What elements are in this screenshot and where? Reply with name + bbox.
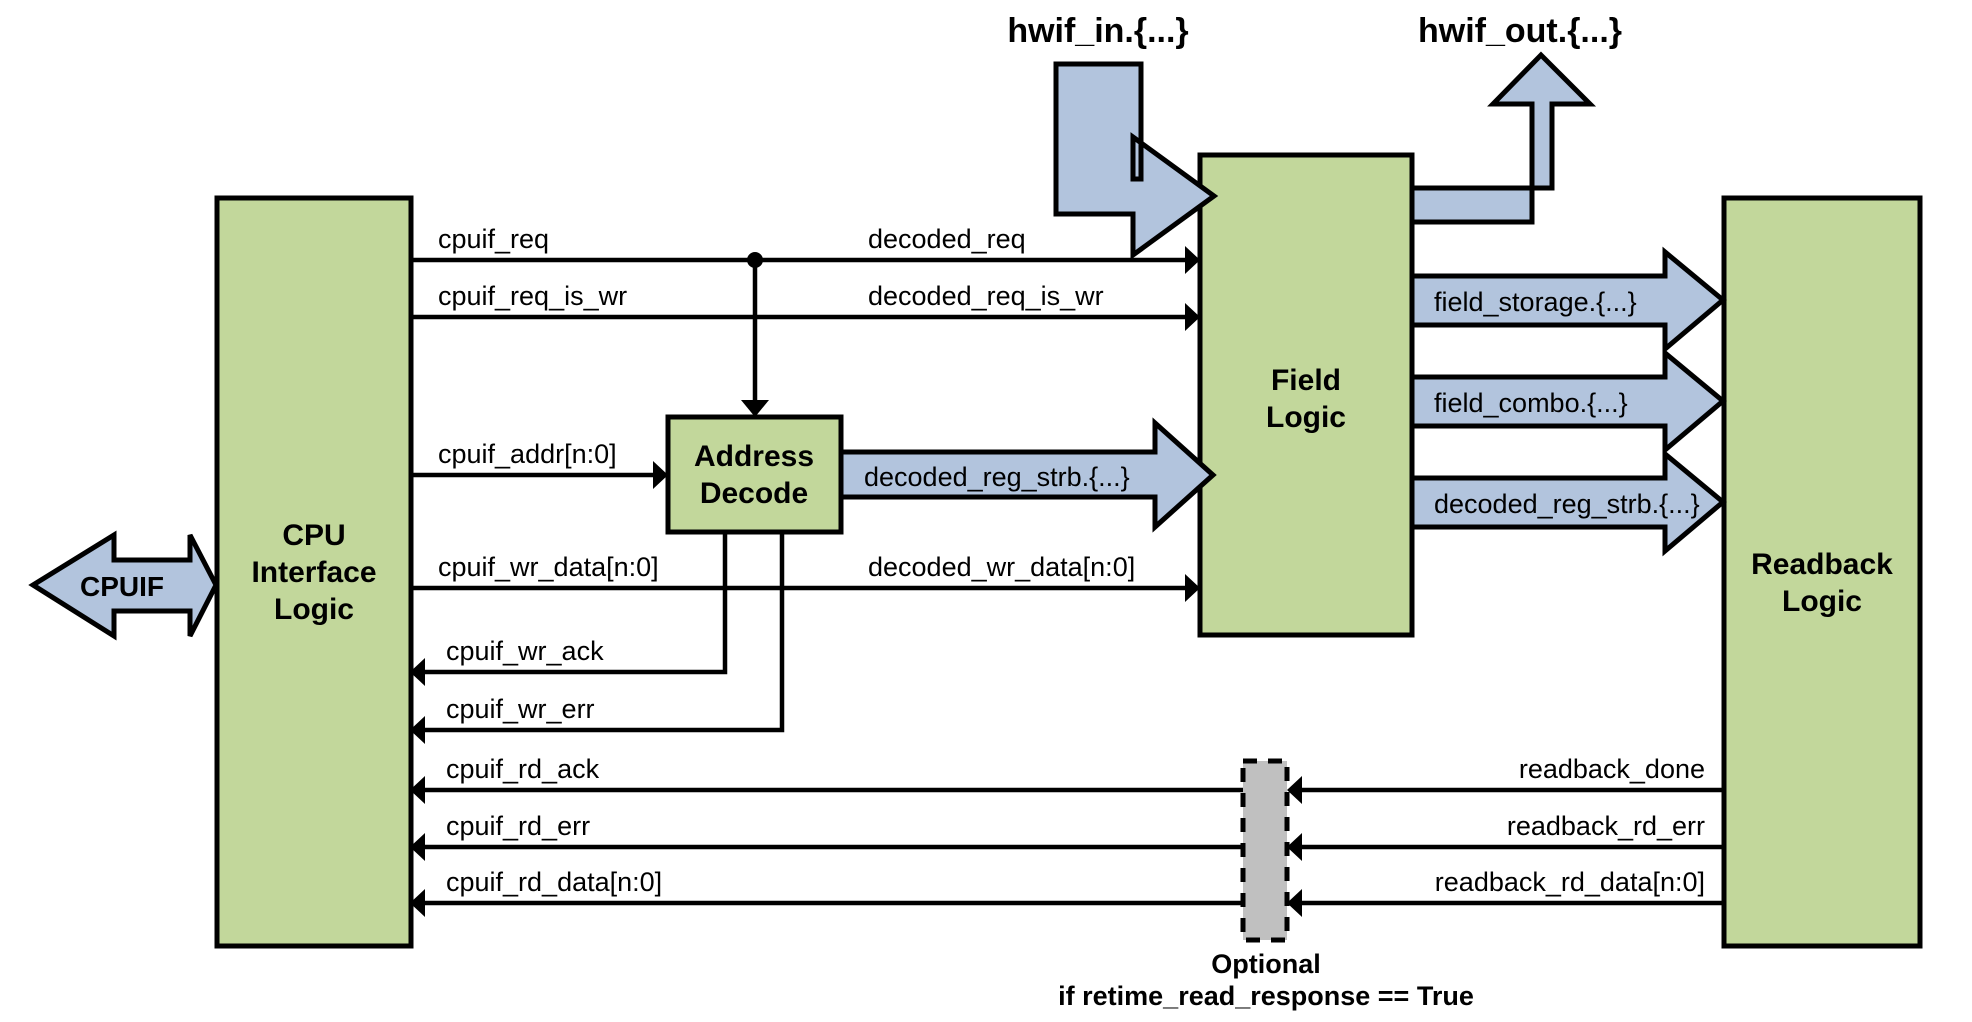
signal-label-decoded-wr-data: decoded_wr_data[n:0] bbox=[868, 552, 1135, 582]
arrowhead-decode-req-in bbox=[741, 400, 769, 417]
cpu-interface-logic-label-line2: Interface bbox=[251, 556, 376, 589]
field-logic-label-line1: Field bbox=[1271, 364, 1341, 397]
address-decode-block bbox=[668, 417, 841, 532]
signal-label-readback-rd-data: readback_rd_data[n:0] bbox=[1435, 867, 1705, 897]
signal-label-cpuif-rd-err: cpuif_rd_err bbox=[446, 811, 590, 841]
signal-label-cpuif-req: cpuif_req bbox=[438, 224, 549, 254]
readback-logic-label-line2: Logic bbox=[1782, 585, 1862, 618]
cpu-interface-logic-label-line3: Logic bbox=[274, 593, 354, 626]
signal-label-decoded-req: decoded_req bbox=[868, 224, 1026, 254]
signal-label-cpuif-rd-data: cpuif_rd_data[n:0] bbox=[446, 867, 662, 897]
signal-label-cpuif-req-is-wr: cpuif_req_is_wr bbox=[438, 281, 627, 311]
signal-label-cpuif-addr: cpuif_addr[n:0] bbox=[438, 439, 617, 469]
junction-dot-cpuif-req bbox=[747, 252, 763, 268]
address-decode-label-line2: Decode bbox=[700, 477, 808, 510]
signal-label-field-combo: field_combo.{...} bbox=[1434, 388, 1628, 418]
block-diagram-canvas: CPU Interface Logic Address Decode Field… bbox=[0, 0, 1972, 1022]
signal-label-decoded-reg-strb: decoded_reg_strb.{...} bbox=[864, 462, 1130, 492]
hwif-out-label: hwif_out.{...} bbox=[1418, 12, 1622, 50]
address-decode-label-line1: Address bbox=[694, 440, 814, 473]
signal-label-cpuif-wr-ack: cpuif_wr_ack bbox=[446, 636, 604, 666]
hwif-out-bus-arrow bbox=[1412, 55, 1590, 222]
signal-label-field-storage: field_storage.{...} bbox=[1434, 287, 1637, 317]
optional-label: Optional bbox=[1211, 949, 1321, 979]
field-logic-label-line2: Logic bbox=[1266, 401, 1346, 434]
signal-label-readback-rd-err: readback_rd_err bbox=[1507, 811, 1705, 841]
optional-retime-block bbox=[1243, 761, 1287, 940]
signal-label-readback-done: readback_done bbox=[1519, 754, 1705, 784]
arrowhead-readback-rd-err bbox=[1287, 833, 1302, 861]
signal-label-cpuif-wr-data: cpuif_wr_data[n:0] bbox=[438, 552, 659, 582]
cpu-interface-logic-label-line1: CPU bbox=[282, 519, 345, 552]
cpuif-port-label: CPUIF bbox=[80, 571, 164, 602]
signal-label-cpuif-wr-err: cpuif_wr_err bbox=[446, 694, 595, 724]
signal-label-decoded-req-is-wr: decoded_req_is_wr bbox=[868, 281, 1104, 311]
hwif-in-label: hwif_in.{...} bbox=[1007, 12, 1188, 50]
signal-label-decoded-reg-strb-readback: decoded_reg_strb.{...} bbox=[1434, 489, 1700, 519]
optional-condition-label: if retime_read_response == True bbox=[1058, 981, 1474, 1011]
signal-label-cpuif-rd-ack: cpuif_rd_ack bbox=[446, 754, 600, 784]
hwif-in-bus-arrow bbox=[1056, 64, 1214, 255]
readback-logic-label-line1: Readback bbox=[1751, 548, 1893, 581]
